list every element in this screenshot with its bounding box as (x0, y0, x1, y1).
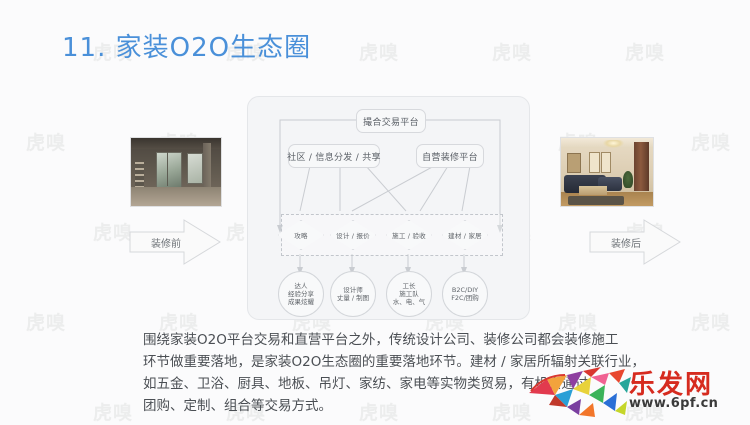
before-renovation-photo (130, 137, 222, 207)
after-arrow-label: 装修后 (600, 235, 652, 250)
page-title: 11. 家装O2O生态圈 (62, 27, 311, 64)
after-arrow: 装修后 (588, 218, 684, 266)
actor-expert[interactable]: 达人 经验分享 成果炫耀 (278, 271, 324, 317)
logo-url-text: www.6pf.cn (629, 396, 718, 411)
node-self-operated-platform[interactable]: 自营装修平台 (416, 144, 484, 168)
bull-logo-icon (525, 363, 635, 419)
before-arrow-label: 装修前 (140, 235, 192, 250)
node-matching-platform[interactable]: 撮合交易平台 (356, 109, 426, 133)
ecosystem-diagram: 撮合交易平台 社区 / 信息分发 / 共享 自营装修平台 攻略 设计 / 报价 … (247, 96, 530, 320)
actor-foreman[interactable]: 工长 施工队 水、电、气 (386, 271, 432, 317)
actor-commerce[interactable]: B2C/DIY F2C/团购 (442, 271, 488, 317)
after-renovation-photo (560, 137, 654, 207)
actor-designer[interactable]: 设计师 丈量 / 制图 (330, 271, 376, 317)
node-community-platform[interactable]: 社区 / 信息分发 / 共享 (288, 144, 380, 168)
before-arrow: 装修前 (128, 218, 224, 266)
body-line-1: 围绕家装O2O平台交易和直营平台之外，传统设计公司、装修公司都会装修施工 (143, 330, 663, 352)
site-logo-watermark: 乐发网 www.6pf.cn (525, 363, 747, 421)
